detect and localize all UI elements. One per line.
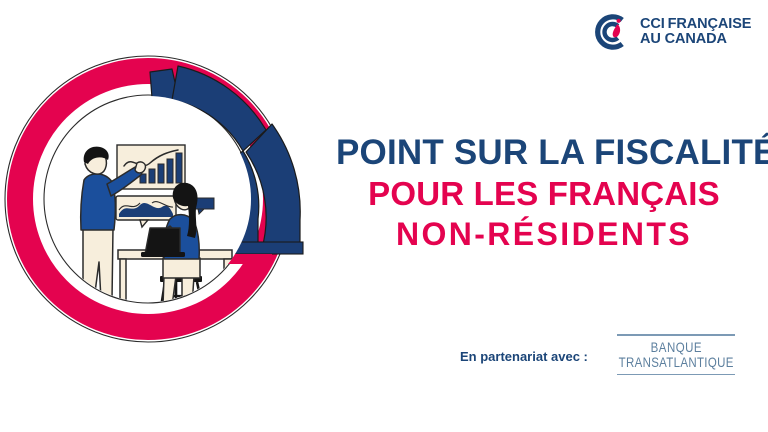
office-scene [44, 95, 252, 314]
illustration-svg [0, 14, 350, 374]
cci-logo-line1-rest: FRANÇAISE [668, 16, 752, 32]
slide-canvas: CCIFRANÇAISE AU CANADA [0, 0, 768, 432]
donut-chart-office-illustration [0, 14, 350, 374]
bt-logo-line1: BANQUE [650, 340, 701, 356]
cci-logo: CCIFRANÇAISE AU CANADA [591, 12, 751, 52]
cci-logo-line1-bold: CCI [640, 16, 665, 32]
partner-row: En partenariat avec : BANQUE TRANSATLANT… [460, 330, 750, 378]
page-title: POINT SUR LA FISCALITÉ POUR LES FRANÇAIS… [336, 132, 752, 254]
cci-c-logo-mark [591, 12, 631, 52]
title-line-2: POUR LES FRANÇAIS [336, 175, 752, 214]
partner-label: En partenariat avec : [460, 349, 588, 364]
cci-logo-line2: AU CANADA [640, 32, 751, 47]
cci-wordmark: CCIFRANÇAISE AU CANADA [640, 17, 751, 48]
banque-transatlantique-logo: BANQUE TRANSATLANTIQUE [606, 330, 746, 378]
bt-logo-line2: TRANSATLANTIQUE [619, 355, 734, 371]
bt-logo-rule-bottom [617, 374, 735, 376]
title-line-3: NON-RÉSIDENTS [336, 216, 752, 254]
title-line-1: POINT SUR LA FISCALITÉ [336, 132, 752, 173]
bt-logo-text: BANQUE TRANSATLANTIQUE [606, 336, 746, 374]
